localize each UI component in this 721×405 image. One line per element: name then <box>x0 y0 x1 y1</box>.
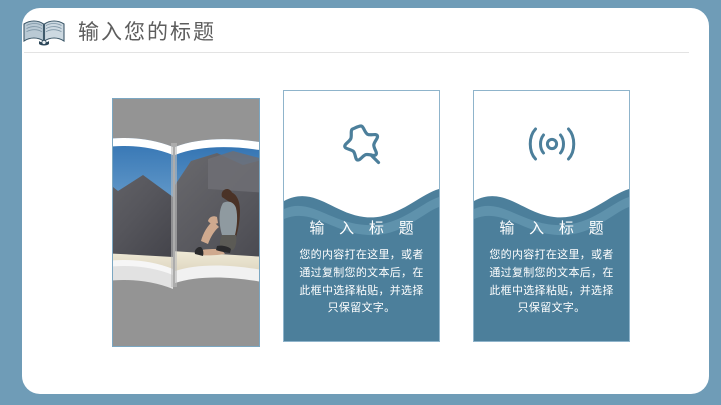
card-icon-container <box>284 113 439 179</box>
slide: 输入您的标题 <box>0 0 721 405</box>
card-title: 输 入 标 题 <box>484 217 619 238</box>
signal-broadcast-icon <box>525 124 579 169</box>
feature-card-2[interactable]: 输 入 标 题 您的内容打在这里，或者通过复制您的文本后，在此框中选择粘贴，并选… <box>473 90 630 342</box>
card-icon-container <box>474 113 629 179</box>
card-body: 输 入 标 题 您的内容打在这里，或者通过复制您的文本后，在此框中选择粘贴，并选… <box>284 217 439 318</box>
card-title: 输 入 标 题 <box>294 217 429 238</box>
book-photo[interactable] <box>112 98 260 347</box>
slide-header: 输入您的标题 <box>22 14 216 50</box>
sparkle-star-icon <box>338 120 386 173</box>
card-text: 您的内容打在这里，或者通过复制您的文本后，在此框中选择粘贴，并选择只保留文字。 <box>294 247 429 318</box>
open-book-icon <box>22 17 66 47</box>
page-title: 输入您的标题 <box>78 22 216 43</box>
card-body: 输 入 标 题 您的内容打在这里，或者通过复制您的文本后，在此框中选择粘贴，并选… <box>474 217 629 318</box>
feature-card-1[interactable]: 输 入 标 题 您的内容打在这里，或者通过复制您的文本后，在此框中选择粘贴，并选… <box>283 90 440 342</box>
card-text: 您的内容打在这里，或者通过复制您的文本后，在此框中选择粘贴，并选择只保留文字。 <box>484 247 619 318</box>
header-divider <box>24 52 689 53</box>
